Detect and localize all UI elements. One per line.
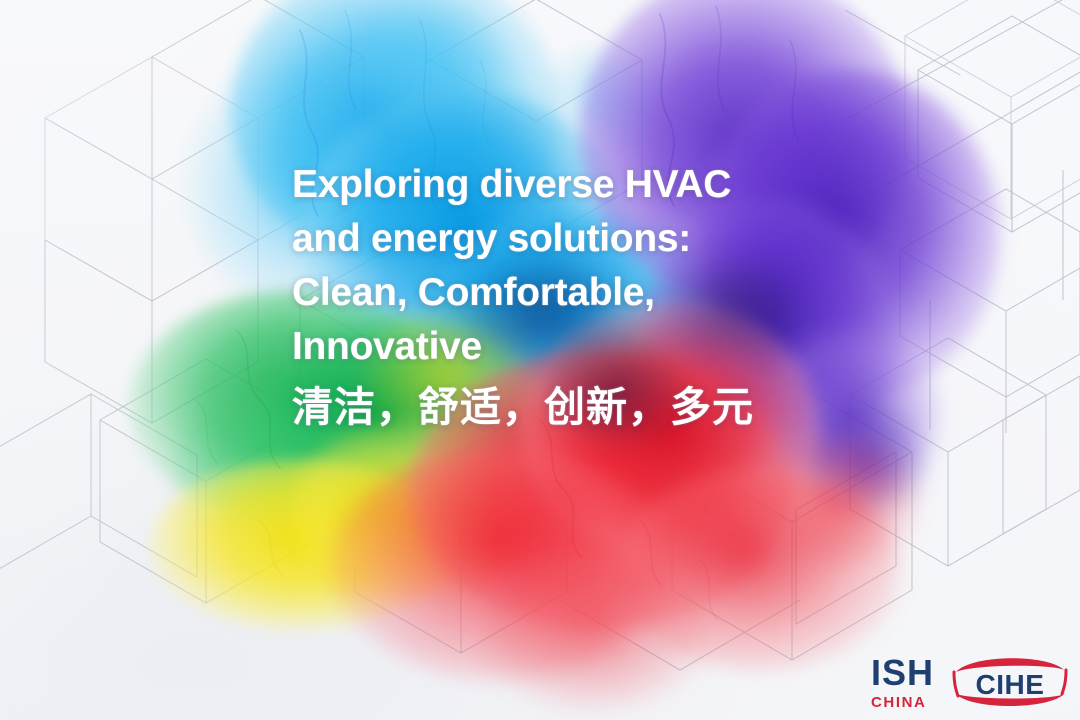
ink-filaments (0, 0, 1080, 720)
ish-wordmark: ISH (871, 655, 934, 691)
logo-lockup: ISH CHINA CIHE (871, 652, 1070, 712)
cihe-wordmark: CIHE (950, 669, 1070, 701)
ish-china-logo: ISH CHINA (871, 655, 934, 710)
ish-china-label: CHINA (871, 695, 927, 710)
banner-photo: Exploring diverse HVAC and energy soluti… (0, 0, 1080, 720)
cihe-logo: CIHE (950, 652, 1070, 712)
